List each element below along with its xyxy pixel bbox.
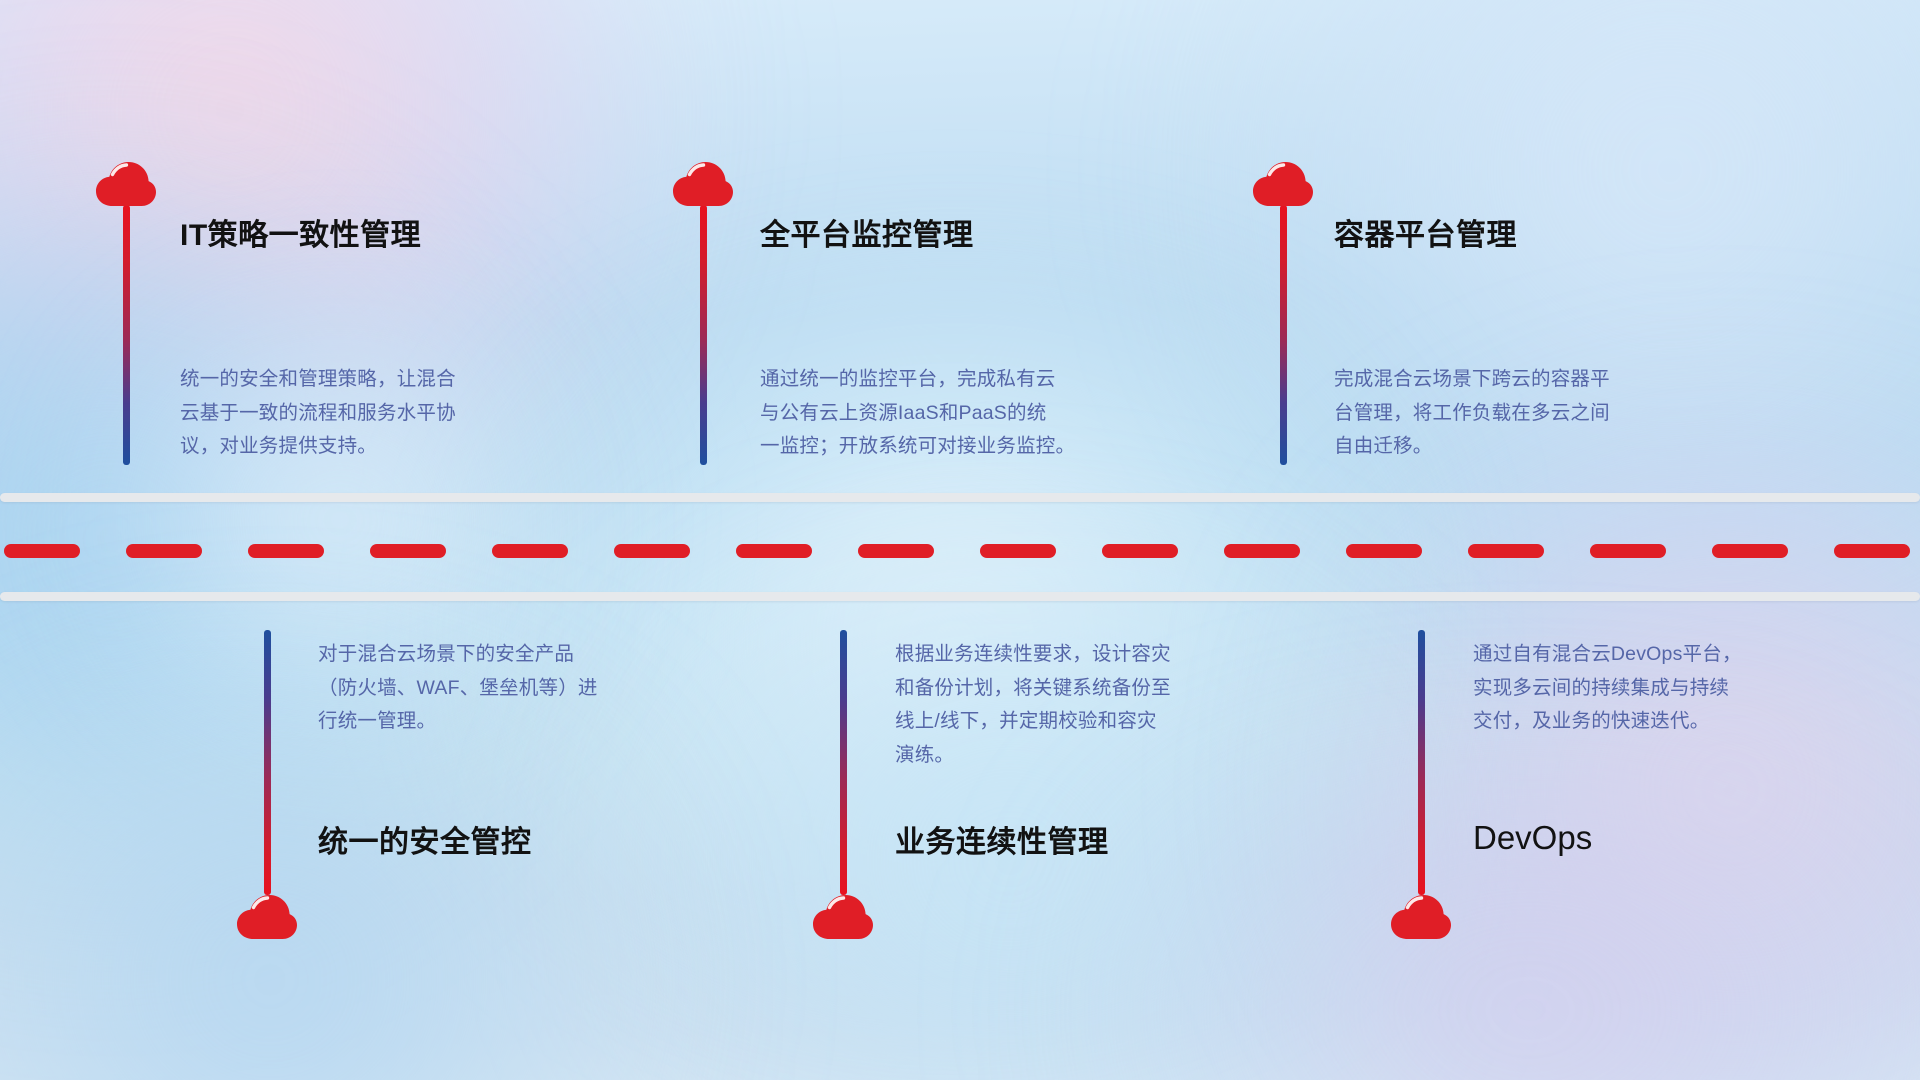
road-dash bbox=[980, 544, 1056, 558]
body-line: 通过统一的监控平台，完成私有云 bbox=[760, 363, 1120, 397]
pin-cloud-bottom-devops bbox=[1390, 893, 1452, 941]
road-dash bbox=[370, 544, 446, 558]
item-body-full-platform-monitoring: 通过统一的监控平台，完成私有云与公有云上资源IaaS和PaaS的统一监控；开放系… bbox=[760, 363, 1120, 464]
body-line: 完成混合云场景下跨云的容器平 bbox=[1334, 363, 1694, 397]
item-body-business-continuity-management: 根据业务连续性要求，设计容灾和备份计划，将关键系统备份至线上/线下，并定期校验和… bbox=[895, 638, 1255, 772]
body-line: 根据业务连续性要求，设计容灾 bbox=[895, 638, 1255, 672]
body-line: 云基于一致的流程和服务水平协 bbox=[180, 397, 540, 431]
cloud-icon bbox=[236, 893, 298, 941]
road-dash bbox=[492, 544, 568, 558]
body-line: 统一的安全和管理策略，让混合 bbox=[180, 363, 540, 397]
cloud-icon bbox=[812, 893, 874, 941]
item-title-full-platform-monitoring: 全平台监控管理 bbox=[760, 218, 974, 254]
road-line-lower bbox=[0, 592, 1920, 601]
item-body-it-policy-consistency: 统一的安全和管理策略，让混合云基于一致的流程和服务水平协议，对业务提供支持。 bbox=[180, 363, 540, 464]
body-line: 和备份计划，将关键系统备份至 bbox=[895, 672, 1255, 706]
item-body-unified-security-control: 对于混合云场景下的安全产品（防火墙、WAF、堡垒机等）进行统一管理。 bbox=[318, 638, 678, 739]
item-title-devops: DevOps bbox=[1473, 818, 1592, 858]
item-body-container-platform-management: 完成混合云场景下跨云的容器平台管理，将工作负载在多云之间自由迁移。 bbox=[1334, 363, 1694, 464]
cloud-icon bbox=[1252, 160, 1314, 208]
body-line: 议，对业务提供支持。 bbox=[180, 430, 540, 464]
pin-pole-top-container-platform-management bbox=[1280, 205, 1287, 465]
infographic-canvas: IT策略一致性管理统一的安全和管理策略，让混合云基于一致的流程和服务水平协议，对… bbox=[0, 0, 1920, 1080]
cloud-icon bbox=[672, 160, 734, 208]
body-line: 与公有云上资源IaaS和PaaS的统 bbox=[760, 397, 1120, 431]
road-dash bbox=[1590, 544, 1666, 558]
body-line: 演练。 bbox=[895, 739, 1255, 773]
road-dash bbox=[858, 544, 934, 558]
body-line: 行统一管理。 bbox=[318, 705, 678, 739]
item-body-devops: 通过自有混合云DevOps平台，实现多云间的持续集成与持续交付，及业务的快速迭代… bbox=[1473, 638, 1833, 739]
pin-cloud-bottom-unified-security-control bbox=[236, 893, 298, 941]
body-line: 通过自有混合云DevOps平台， bbox=[1473, 638, 1833, 672]
road-dash bbox=[248, 544, 324, 558]
body-line: 线上/线下，并定期校验和容灾 bbox=[895, 705, 1255, 739]
road-dash bbox=[4, 544, 80, 558]
body-line: 实现多云间的持续集成与持续 bbox=[1473, 672, 1833, 706]
pin-cloud-top-it-policy-consistency bbox=[95, 160, 157, 208]
body-line: 对于混合云场景下的安全产品 bbox=[318, 638, 678, 672]
item-title-unified-security-control: 统一的安全管控 bbox=[318, 825, 532, 861]
body-line: 一监控；开放系统可对接业务监控。 bbox=[760, 430, 1120, 464]
item-title-container-platform-management: 容器平台管理 bbox=[1334, 218, 1517, 254]
road-dash bbox=[736, 544, 812, 558]
pin-cloud-top-container-platform-management bbox=[1252, 160, 1314, 208]
road-dash bbox=[1834, 544, 1910, 558]
road-dash bbox=[614, 544, 690, 558]
road-dash bbox=[1468, 544, 1544, 558]
body-line: 交付，及业务的快速迭代。 bbox=[1473, 705, 1833, 739]
road-dash bbox=[1102, 544, 1178, 558]
body-line: 自由迁移。 bbox=[1334, 430, 1694, 464]
body-line: （防火墙、WAF、堡垒机等）进 bbox=[318, 672, 678, 706]
item-title-it-policy-consistency: IT策略一致性管理 bbox=[180, 218, 421, 254]
item-title-business-continuity-management: 业务连续性管理 bbox=[895, 825, 1109, 861]
body-line: 台管理，将工作负载在多云之间 bbox=[1334, 397, 1694, 431]
road-dash bbox=[1712, 544, 1788, 558]
pin-pole-top-it-policy-consistency bbox=[123, 205, 130, 465]
pin-cloud-top-full-platform-monitoring bbox=[672, 160, 734, 208]
pin-pole-bottom-unified-security-control bbox=[264, 630, 271, 895]
cloud-icon bbox=[1390, 893, 1452, 941]
road-center-dashes bbox=[0, 544, 1920, 558]
road-line-upper bbox=[0, 493, 1920, 502]
pin-cloud-bottom-business-continuity-management bbox=[812, 893, 874, 941]
pin-pole-bottom-business-continuity-management bbox=[840, 630, 847, 895]
road-dash bbox=[1224, 544, 1300, 558]
pin-pole-top-full-platform-monitoring bbox=[700, 205, 707, 465]
pin-pole-bottom-devops bbox=[1418, 630, 1425, 895]
road-dash bbox=[1346, 544, 1422, 558]
road-dash bbox=[126, 544, 202, 558]
cloud-icon bbox=[95, 160, 157, 208]
